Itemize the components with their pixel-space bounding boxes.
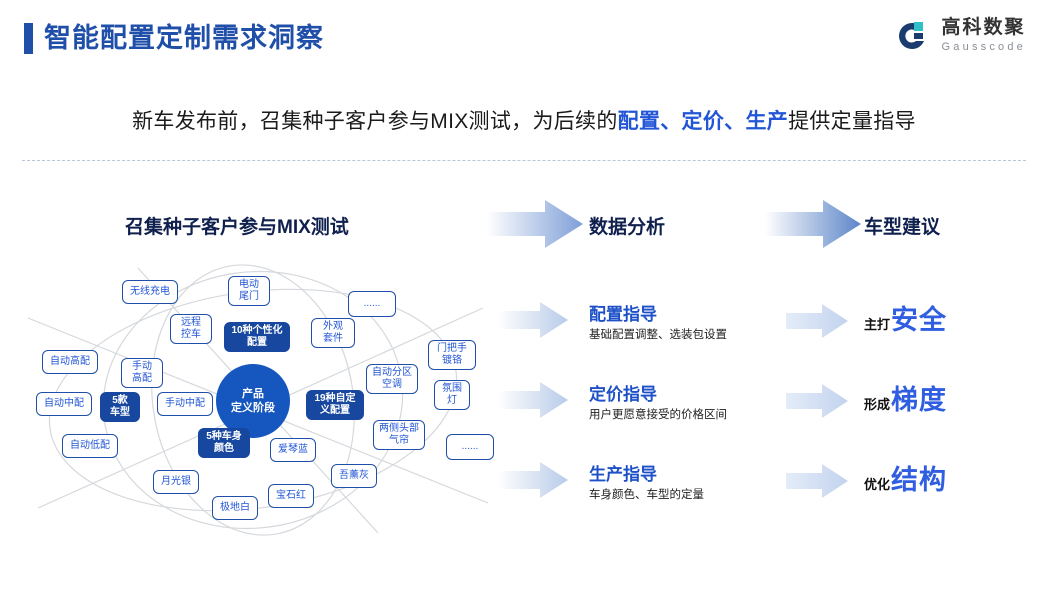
map-node: 5种车身 颜色 bbox=[198, 428, 250, 458]
map-node: ...... bbox=[446, 434, 494, 460]
subtitle-part-1: 新车发布前，召集种子客户参与MIX测试，为后续的 bbox=[132, 110, 618, 133]
result-keyword: 结构 bbox=[891, 458, 947, 497]
result-keyword: 梯度 bbox=[891, 378, 947, 417]
brand-logo: 高科数聚 Gausscode bbox=[894, 18, 1026, 53]
page-header: 智能配置定制需求洞察 高科数聚 Gausscode bbox=[0, 0, 1048, 78]
result-prefix: 优化 bbox=[864, 474, 890, 493]
map-node: 极地白 bbox=[212, 496, 258, 520]
header-arrow-icon-1 bbox=[487, 200, 583, 248]
title-accent-bar bbox=[24, 23, 33, 54]
result-prefix: 形成 bbox=[864, 394, 890, 413]
map-node: 吾薰灰 bbox=[331, 464, 377, 488]
map-node: 电动 尾门 bbox=[228, 276, 270, 306]
map-node: 月光银 bbox=[153, 470, 199, 494]
analysis-row-title: 定价指导 bbox=[589, 380, 657, 405]
column-heading-mix-test: 召集种子客户参与MIX测试 bbox=[125, 212, 349, 239]
map-node: 无线充电 bbox=[122, 280, 178, 304]
analysis-row-subtitle: 车身颜色、车型的定量 bbox=[589, 486, 704, 502]
brand-logo-text: 高科数聚 Gausscode bbox=[942, 18, 1026, 53]
result-prefix: 主打 bbox=[864, 314, 890, 333]
map-node: ...... bbox=[348, 291, 396, 317]
result-keyword: 安全 bbox=[891, 298, 947, 337]
subtitle-highlight: 配置、定价、生产 bbox=[618, 110, 788, 133]
column-heading-model-advice: 车型建议 bbox=[864, 212, 940, 239]
map-node: 19种自定 义配置 bbox=[306, 390, 364, 420]
slide-subtitle: 新车发布前，召集种子客户参与MIX测试，为后续的配置、定价、生产提供定量指导 bbox=[0, 105, 1048, 135]
result-arrow-icon bbox=[786, 464, 856, 500]
map-node: 10种个性化 配置 bbox=[224, 322, 290, 352]
header-arrow-icon-2 bbox=[765, 200, 861, 248]
gausscode-logo-icon bbox=[894, 19, 934, 53]
map-node: 自动分区 空调 bbox=[366, 364, 418, 394]
map-node: 自动高配 bbox=[42, 350, 98, 374]
map-node: 氛围 灯 bbox=[434, 380, 470, 410]
map-node: 手动 高配 bbox=[121, 358, 163, 388]
map-node: 5款 车型 bbox=[100, 392, 140, 422]
analysis-arrow-icon bbox=[498, 382, 568, 418]
brand-name-en: Gausscode bbox=[942, 42, 1026, 53]
column-heading-data-analysis: 数据分析 bbox=[589, 212, 665, 239]
brand-name-cn: 高科数聚 bbox=[942, 18, 1026, 37]
analysis-arrow-icon bbox=[498, 302, 568, 338]
map-node: 自动低配 bbox=[62, 434, 118, 458]
result-arrow-icon bbox=[786, 304, 856, 340]
map-node: 宝石红 bbox=[268, 484, 314, 508]
map-node: 外观 套件 bbox=[311, 318, 355, 348]
result-item: 优化结构 bbox=[864, 458, 947, 497]
map-node: 爱琴蓝 bbox=[270, 438, 316, 462]
map-node: 两侧头部 气帘 bbox=[373, 420, 425, 450]
map-node: 远程 控车 bbox=[170, 314, 212, 344]
map-center-node: 产品 定义阶段 bbox=[216, 364, 290, 438]
section-divider bbox=[22, 160, 1026, 161]
result-item: 形成梯度 bbox=[864, 378, 947, 417]
map-node: 手动中配 bbox=[157, 392, 213, 416]
analysis-row-subtitle: 基础配置调整、选装包设置 bbox=[589, 326, 727, 342]
page-title: 智能配置定制需求洞察 bbox=[44, 20, 324, 56]
result-arrow-icon bbox=[786, 384, 856, 420]
analysis-row-title: 配置指导 bbox=[589, 300, 657, 325]
analysis-row-title: 生产指导 bbox=[589, 460, 657, 485]
subtitle-part-2: 提供定量指导 bbox=[788, 110, 916, 133]
map-node: 门把手 镀铬 bbox=[428, 340, 476, 370]
analysis-row-subtitle: 用户更愿意接受的价格区间 bbox=[589, 406, 727, 422]
analysis-arrow-icon bbox=[498, 462, 568, 498]
map-node: 自动中配 bbox=[36, 392, 92, 416]
product-definition-network-map: 产品 定义阶段 无线充电电动 尾门......远程 控车10种个性化 配置外观 … bbox=[18, 258, 498, 543]
result-item: 主打安全 bbox=[864, 298, 947, 337]
